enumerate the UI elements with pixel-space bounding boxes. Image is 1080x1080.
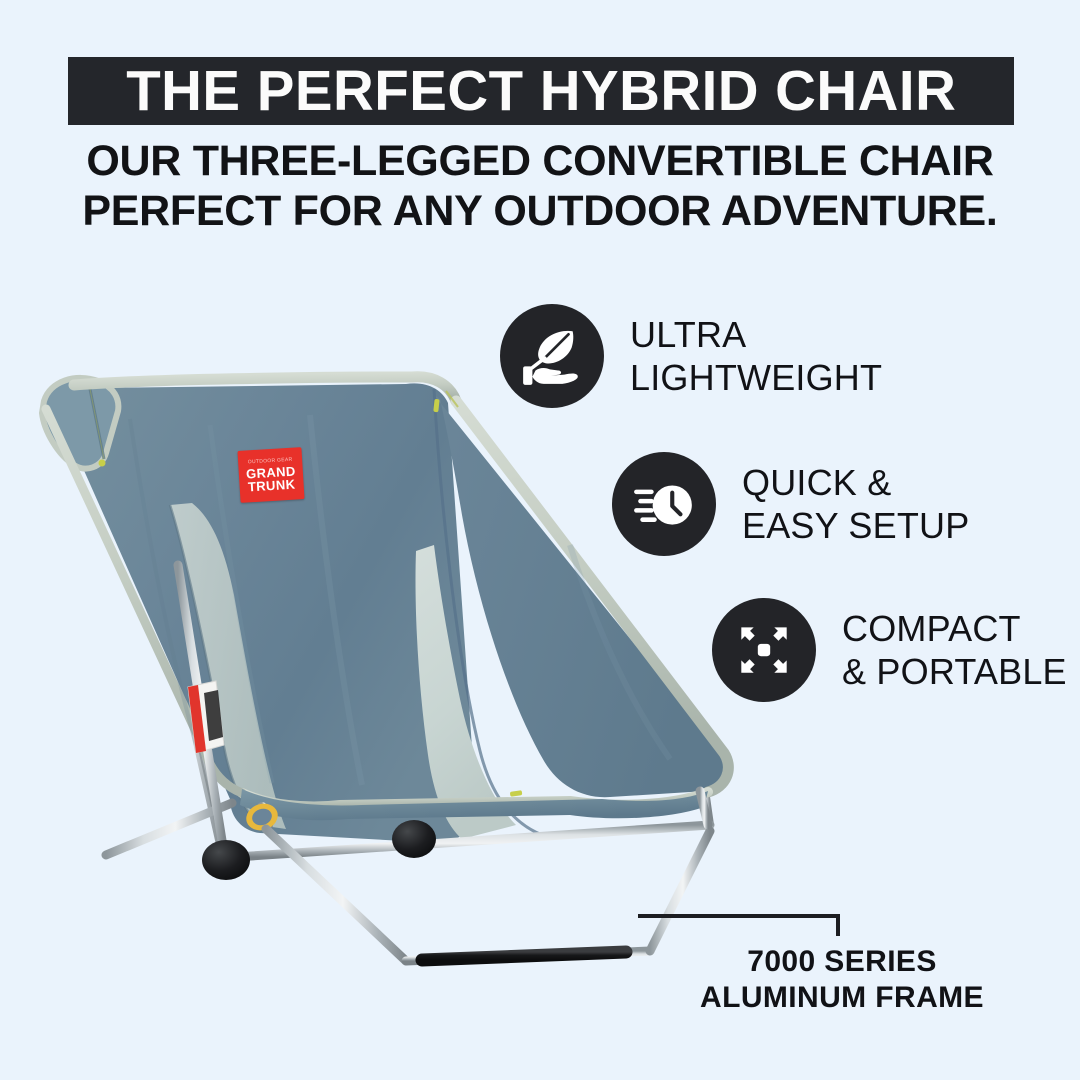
chair-foot-left bbox=[202, 840, 250, 880]
poster-canvas: THE PERFECT HYBRID CHAIR OUR THREE-LEGGE… bbox=[0, 0, 1080, 1080]
feature-0-line-2: LIGHTWEIGHT bbox=[630, 356, 882, 399]
fast-clock-icon bbox=[612, 452, 716, 556]
page-title-bar: THE PERFECT HYBRID CHAIR bbox=[68, 57, 1014, 125]
callout-text: 7000 SERIES ALUMINUM FRAME bbox=[632, 944, 1052, 1016]
brand-patch-line-2: TRUNK bbox=[248, 478, 296, 494]
feature-label-quick-easy-setup: QUICK & EASY SETUP bbox=[742, 461, 969, 547]
feature-label-compact-portable: COMPACT & PORTABLE bbox=[842, 607, 1067, 693]
feature-2-line-1: COMPACT bbox=[842, 607, 1067, 650]
subtitle-line-2: PERFECT FOR ANY OUTDOOR ADVENTURE. bbox=[0, 186, 1080, 236]
feature-1-line-1: QUICK & bbox=[742, 461, 969, 504]
feature-compact-portable: COMPACT & PORTABLE bbox=[712, 598, 1067, 702]
chair-fabric bbox=[42, 377, 728, 843]
feature-1-line-2: EASY SETUP bbox=[742, 504, 969, 547]
feather-in-hand-icon bbox=[500, 304, 604, 408]
page-subtitle: OUR THREE-LEGGED CONVERTIBLE CHAIR PERFE… bbox=[0, 136, 1080, 236]
subtitle-line-1: OUR THREE-LEGGED CONVERTIBLE CHAIR bbox=[0, 136, 1080, 186]
feature-2-line-2: & PORTABLE bbox=[842, 650, 1067, 693]
feature-label-ultra-lightweight: ULTRA LIGHTWEIGHT bbox=[630, 313, 882, 399]
callout-line-2: ALUMINUM FRAME bbox=[632, 980, 1052, 1016]
callout-line-1: 7000 SERIES bbox=[632, 944, 1052, 980]
feature-ultra-lightweight: ULTRA LIGHTWEIGHT bbox=[500, 304, 882, 408]
callout-leader-line bbox=[638, 914, 840, 936]
compress-arrows-icon bbox=[712, 598, 816, 702]
brand-logo-patch: OUTDOOR GEAR GRAND TRUNK bbox=[237, 447, 304, 503]
feature-quick-easy-setup: QUICK & EASY SETUP bbox=[612, 452, 969, 556]
page-title: THE PERFECT HYBRID CHAIR bbox=[126, 63, 956, 120]
feature-0-line-1: ULTRA bbox=[630, 313, 882, 356]
